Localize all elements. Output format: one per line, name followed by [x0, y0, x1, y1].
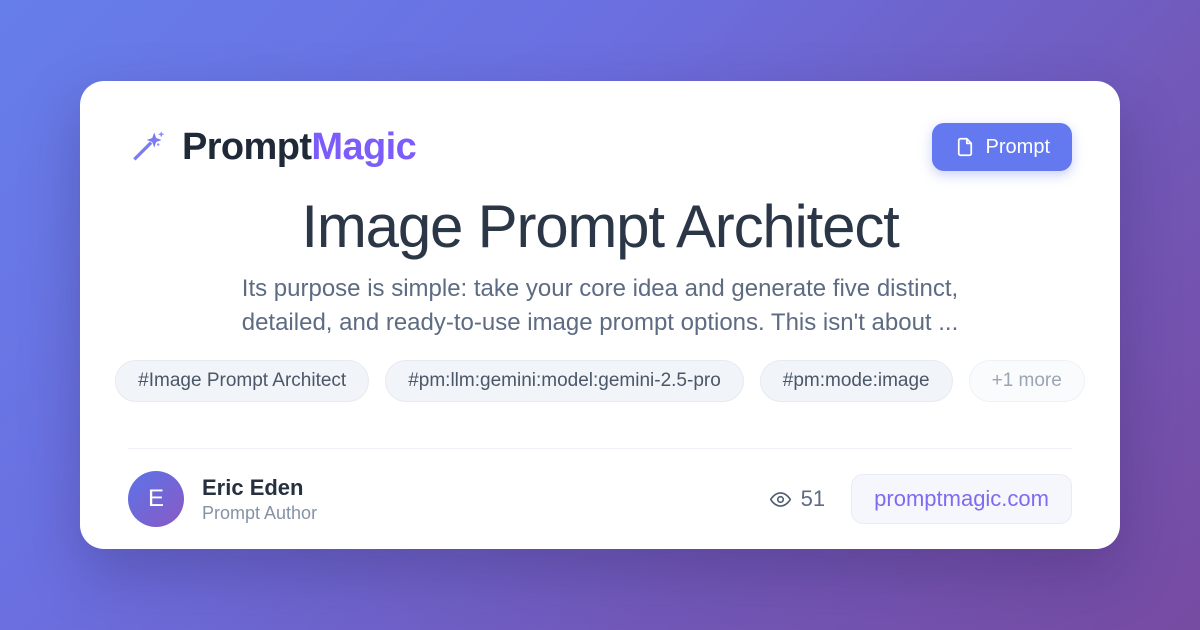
tag-item[interactable]: #pm:mode:image [760, 360, 953, 402]
document-icon [954, 136, 976, 158]
prompt-button-label: Prompt [986, 137, 1050, 157]
footer-right: 51 promptmagic.com [769, 474, 1072, 524]
brand-name-secondary: Magic [311, 126, 416, 168]
page-description: Its purpose is simple: take your core id… [220, 272, 980, 340]
view-count-value: 51 [801, 488, 825, 510]
avatar: E [128, 471, 184, 527]
brand-logo[interactable]: PromptMagic [128, 127, 416, 167]
prompt-button[interactable]: Prompt [932, 123, 1072, 171]
author-block[interactable]: E Eric Eden Prompt Author [128, 471, 317, 527]
card-body: Image Prompt Architect Its purpose is si… [128, 173, 1072, 428]
tag-list: #Image Prompt Architect #pm:llm:gemini:m… [115, 360, 1085, 402]
tag-item[interactable]: #Image Prompt Architect [115, 360, 369, 402]
magic-wand-icon [128, 127, 168, 167]
card-header: PromptMagic Prompt [128, 121, 1072, 173]
author-role: Prompt Author [202, 503, 317, 524]
view-count: 51 [769, 488, 825, 511]
eye-icon [769, 488, 792, 511]
site-badge[interactable]: promptmagic.com [851, 474, 1072, 524]
author-meta: Eric Eden Prompt Author [202, 475, 317, 524]
author-name: Eric Eden [202, 475, 317, 500]
tag-item[interactable]: #pm:llm:gemini:model:gemini-2.5-pro [385, 360, 744, 402]
page-title: Image Prompt Architect [301, 195, 898, 258]
brand-name-primary: Prompt [182, 126, 311, 168]
brand-name: PromptMagic [182, 128, 416, 166]
tag-more-indicator[interactable]: +1 more [969, 360, 1085, 402]
card-footer: E Eric Eden Prompt Author 51 promptmagic… [128, 449, 1072, 549]
prompt-card: PromptMagic Prompt Image Prompt Architec… [80, 81, 1120, 549]
